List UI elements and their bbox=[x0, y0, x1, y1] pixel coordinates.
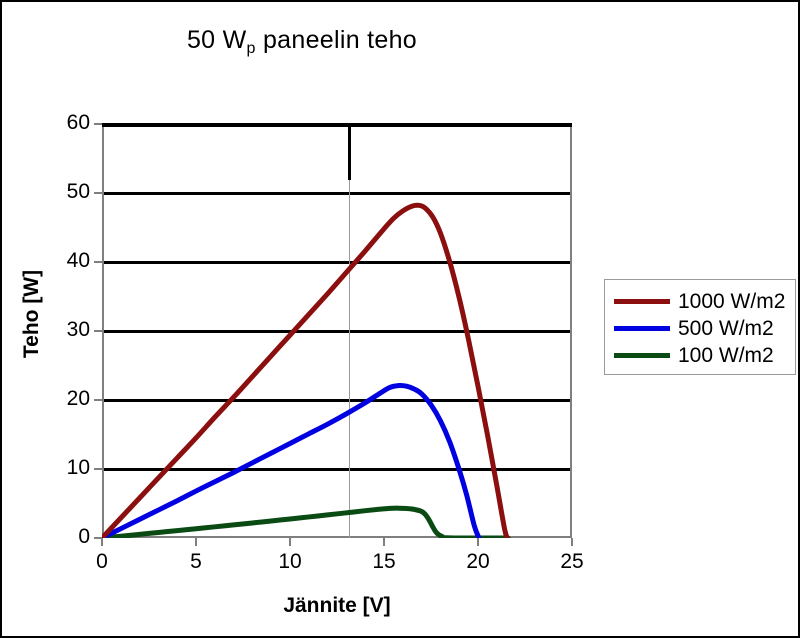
y-tick-label-10: 10 bbox=[30, 456, 90, 480]
y-tick-label-30: 30 bbox=[30, 318, 90, 342]
x-tick-mark-0 bbox=[101, 538, 103, 546]
y-tick-label-40: 40 bbox=[30, 249, 90, 273]
legend-swatch-0 bbox=[614, 299, 670, 304]
x-tick-mark-15 bbox=[383, 538, 385, 546]
legend-label-2: 100 W/m2 bbox=[678, 345, 774, 366]
chart-title: 50 Wp paneelin teho bbox=[2, 26, 602, 55]
y-tick-mark-10 bbox=[94, 468, 102, 470]
y-tick-mark-20 bbox=[94, 399, 102, 401]
y-tick-label-50: 50 bbox=[30, 180, 90, 204]
series-curves bbox=[102, 124, 572, 538]
y-tick-mark-40 bbox=[94, 261, 102, 263]
x-tick-label-5: 5 bbox=[166, 550, 226, 574]
y-tick-mark-30 bbox=[94, 330, 102, 332]
legend-item-2[interactable]: 100 W/m2 bbox=[605, 342, 795, 369]
chart-screenshot: 50 Wp paneelin teho Teho [W] Jännite [V]… bbox=[0, 0, 800, 638]
chart-title-subscript: p bbox=[247, 40, 256, 57]
x-tick-mark-25 bbox=[571, 538, 573, 546]
legend-swatch-2 bbox=[614, 353, 670, 358]
legend-item-1[interactable]: 500 W/m2 bbox=[605, 315, 795, 342]
x-tick-mark-5 bbox=[195, 538, 197, 546]
x-tick-label-0: 0 bbox=[72, 550, 132, 574]
legend-item-0[interactable]: 1000 W/m2 bbox=[605, 288, 795, 315]
series-line-100-w-m2 bbox=[102, 508, 508, 538]
series-line-500-w-m2 bbox=[102, 385, 479, 538]
x-tick-label-20: 20 bbox=[448, 550, 508, 574]
x-tick-label-10: 10 bbox=[260, 550, 320, 574]
x-axis-title: Jännite [V] bbox=[102, 594, 572, 618]
series-line-1000-w-m2 bbox=[102, 205, 507, 538]
chart-title-tail: paneelin teho bbox=[256, 26, 417, 54]
chart-title-main: 50 W bbox=[187, 26, 247, 54]
legend-swatch-1 bbox=[614, 326, 670, 331]
y-tick-mark-60 bbox=[94, 123, 102, 125]
plot-area bbox=[102, 124, 572, 538]
legend-label-0: 1000 W/m2 bbox=[678, 291, 785, 312]
y-tick-mark-50 bbox=[94, 192, 102, 194]
x-tick-mark-10 bbox=[289, 538, 291, 546]
legend: 1000 W/m2500 W/m2100 W/m2 bbox=[604, 279, 796, 375]
y-tick-label-0: 0 bbox=[30, 525, 90, 549]
y-tick-label-60: 60 bbox=[30, 111, 90, 135]
legend-label-1: 500 W/m2 bbox=[678, 318, 774, 339]
x-tick-label-15: 15 bbox=[354, 550, 414, 574]
x-tick-label-25: 25 bbox=[542, 550, 602, 574]
y-tick-label-20: 20 bbox=[30, 387, 90, 411]
x-tick-mark-20 bbox=[477, 538, 479, 546]
